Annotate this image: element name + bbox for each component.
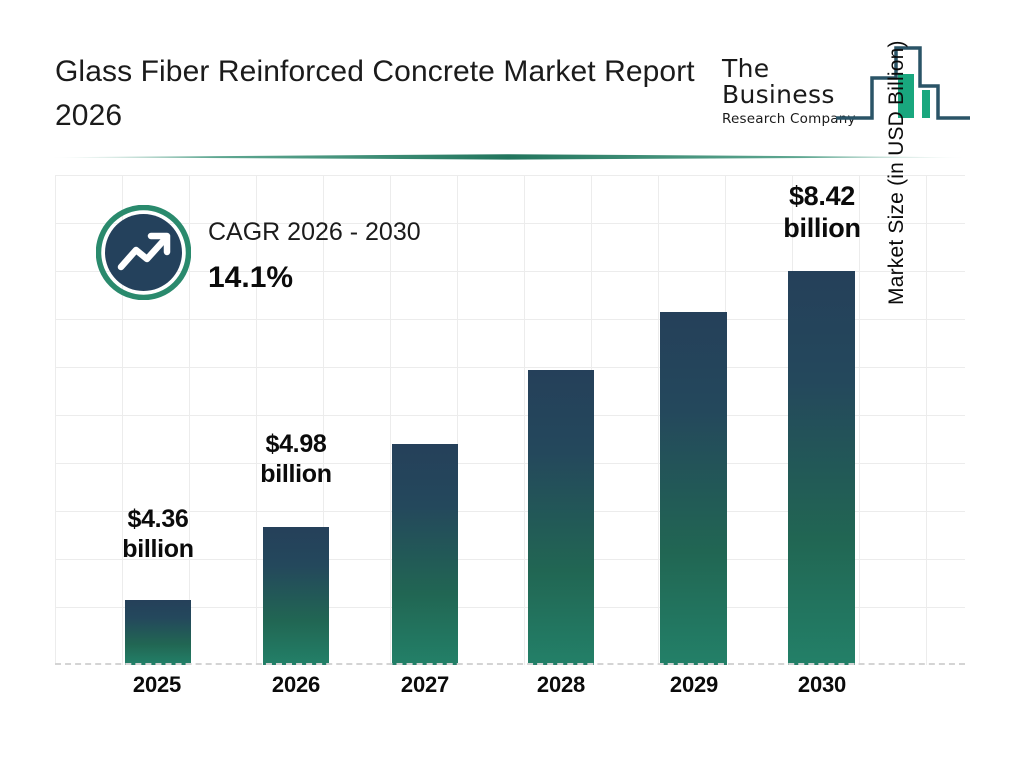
bar-2028[interactable] [528, 370, 594, 665]
bar-value-unit-2030: billion [766, 213, 878, 245]
x-tick-2025: 2025 [107, 672, 207, 698]
chart-plot-area: $4.36 billion $4.98 billion $8.42 billio… [55, 175, 965, 665]
cagr-badge: CAGR 2026 - 2030 14.1% [96, 205, 516, 305]
chart-baseline [55, 663, 965, 665]
bar-value-amount-2030: $8.42 [766, 181, 878, 213]
bar-value-amount-2025: $4.36 [103, 505, 213, 535]
page-title: Glass Fiber Reinforced Concrete Market R… [55, 50, 695, 137]
bar-value-label-2030: $8.42 billion [766, 181, 878, 245]
header-divider [52, 152, 964, 162]
x-tick-2027: 2027 [375, 672, 475, 698]
bar-value-unit-2025: billion [103, 535, 213, 565]
bar-value-label-2026: $4.98 billion [241, 430, 351, 489]
trending-up-icon [96, 205, 191, 300]
bar-2025[interactable] [125, 600, 191, 665]
x-tick-2026: 2026 [246, 672, 346, 698]
x-tick-2030: 2030 [772, 672, 872, 698]
x-tick-2029: 2029 [644, 672, 744, 698]
bar-2026[interactable] [263, 527, 329, 665]
bar-value-amount-2026: $4.98 [241, 430, 351, 460]
bar-2029[interactable] [660, 312, 727, 665]
company-logo: The Business Research Company [722, 34, 972, 134]
cagr-period-label: CAGR 2026 - 2030 [208, 218, 421, 247]
cagr-value: 14.1% [208, 261, 293, 295]
bar-value-unit-2026: billion [241, 460, 351, 490]
bar-value-label-2025: $4.36 billion [103, 505, 213, 564]
x-axis-ticks: 2025 2026 2027 2028 2029 2030 [55, 672, 965, 717]
bar-2030[interactable] [788, 271, 855, 665]
slide-canvas: Glass Fiber Reinforced Concrete Market R… [0, 0, 1024, 768]
y-axis-title: Market Size (in USD Billion) [885, 0, 925, 305]
x-tick-2028: 2028 [511, 672, 611, 698]
header: Glass Fiber Reinforced Concrete Market R… [0, 0, 1024, 150]
bar-2027[interactable] [392, 444, 458, 665]
